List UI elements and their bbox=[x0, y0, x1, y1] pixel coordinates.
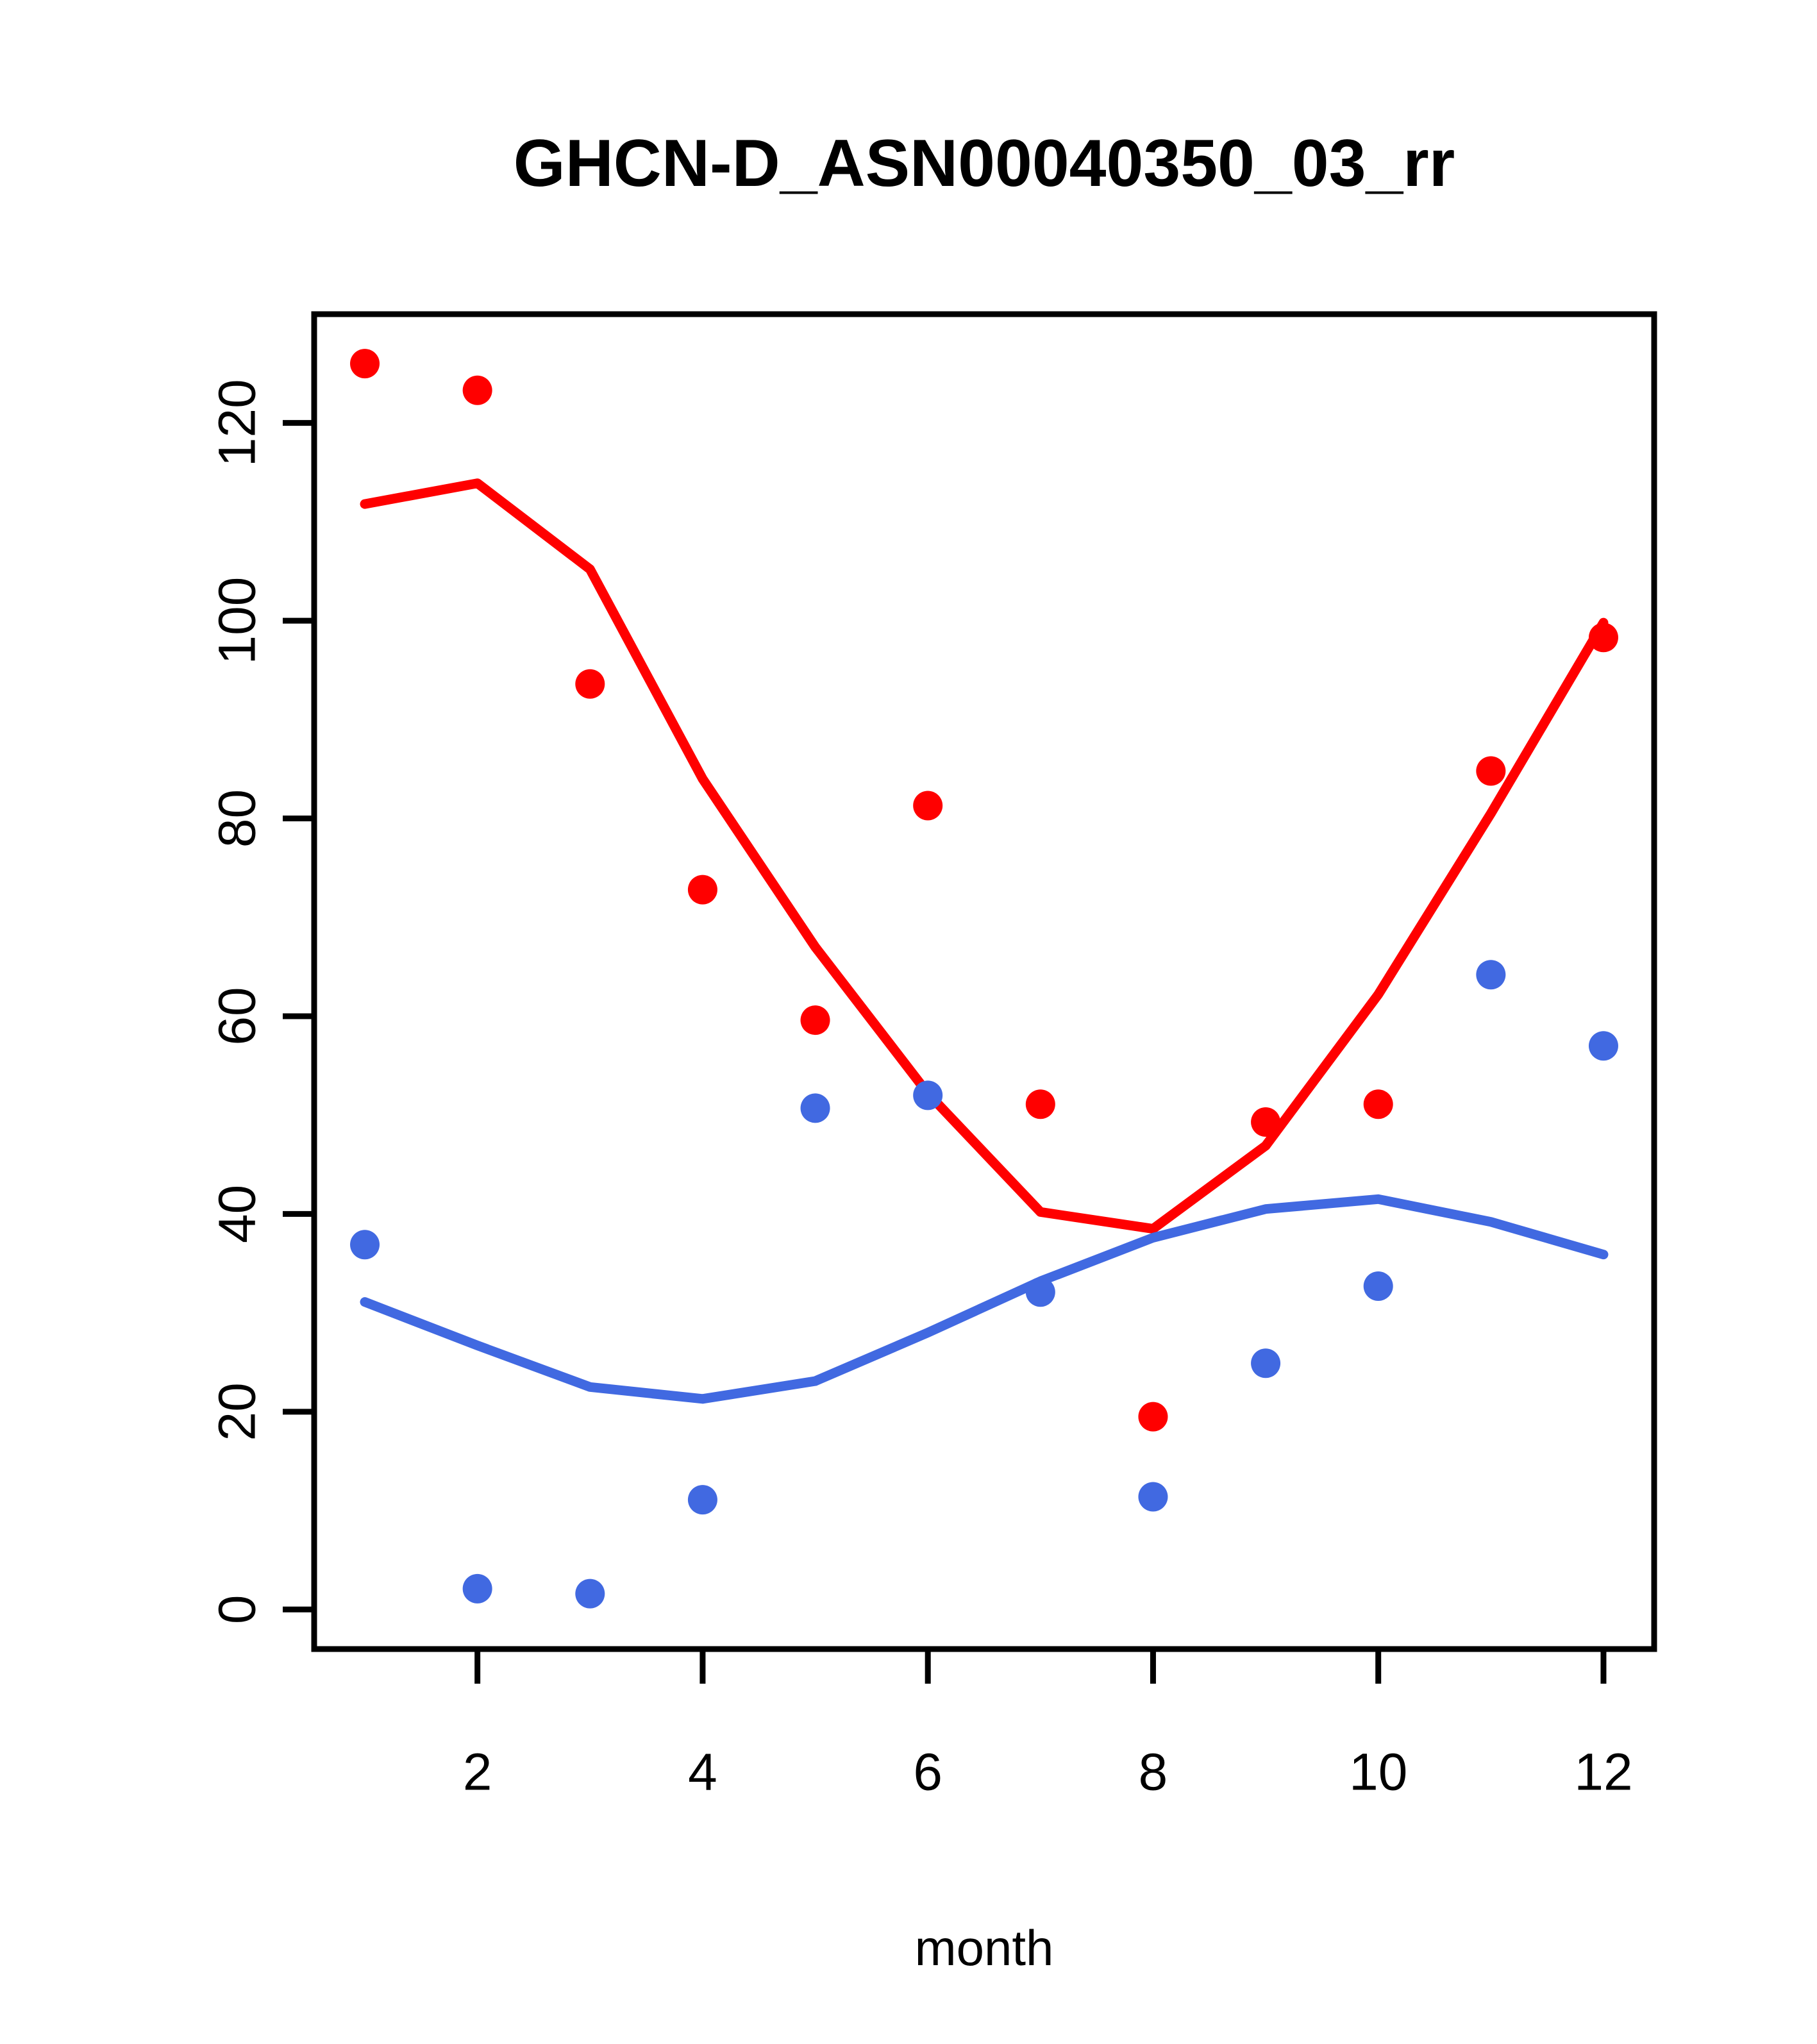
data-point bbox=[575, 1579, 605, 1609]
data-point bbox=[913, 1080, 942, 1110]
y-tick-label: 40 bbox=[208, 1185, 267, 1243]
y-tick-label: 120 bbox=[208, 379, 267, 467]
data-point bbox=[801, 1093, 830, 1123]
x-tick-label: 2 bbox=[463, 1743, 492, 1802]
scatter-plot-svg: GHCN-D_ASN00040350_03_rr 020406080100120… bbox=[0, 0, 1817, 2044]
data-point bbox=[575, 669, 605, 699]
data-point bbox=[913, 791, 942, 820]
data-point bbox=[1026, 1089, 1055, 1119]
data-point bbox=[801, 1005, 830, 1035]
data-point bbox=[688, 875, 717, 905]
data-point bbox=[1589, 1031, 1618, 1060]
x-tick-label: 8 bbox=[1139, 1743, 1168, 1802]
data-point bbox=[463, 1574, 492, 1604]
x-axis-label: month bbox=[915, 1920, 1054, 1976]
x-tick-label: 10 bbox=[1349, 1743, 1407, 1802]
data-point bbox=[688, 1485, 717, 1514]
data-point bbox=[1476, 960, 1505, 989]
data-point bbox=[1138, 1402, 1168, 1432]
y-tick-label: 0 bbox=[208, 1595, 267, 1625]
y-tick-label: 80 bbox=[208, 789, 267, 848]
data-point bbox=[1589, 623, 1618, 652]
plot-background bbox=[0, 0, 1817, 2044]
chart-figure: GHCN-D_ASN00040350_03_rr 020406080100120… bbox=[0, 0, 1817, 2044]
x-tick-label: 6 bbox=[913, 1743, 942, 1802]
data-point bbox=[350, 1230, 380, 1259]
y-tick-label: 60 bbox=[208, 987, 267, 1045]
data-point bbox=[1476, 757, 1505, 786]
x-tick-label: 12 bbox=[1574, 1743, 1632, 1802]
y-tick-label: 100 bbox=[208, 577, 267, 665]
data-point bbox=[350, 349, 380, 378]
data-point bbox=[463, 376, 492, 405]
data-point bbox=[1364, 1089, 1393, 1119]
x-tick-label: 4 bbox=[688, 1743, 717, 1802]
y-tick-label: 20 bbox=[208, 1382, 267, 1441]
page-title: GHCN-D_ASN00040350_03_rr bbox=[514, 126, 1455, 201]
data-point bbox=[1138, 1482, 1168, 1512]
data-point bbox=[1251, 1107, 1280, 1137]
data-point bbox=[1251, 1348, 1280, 1378]
data-point bbox=[1364, 1271, 1393, 1301]
data-point bbox=[1026, 1277, 1055, 1307]
